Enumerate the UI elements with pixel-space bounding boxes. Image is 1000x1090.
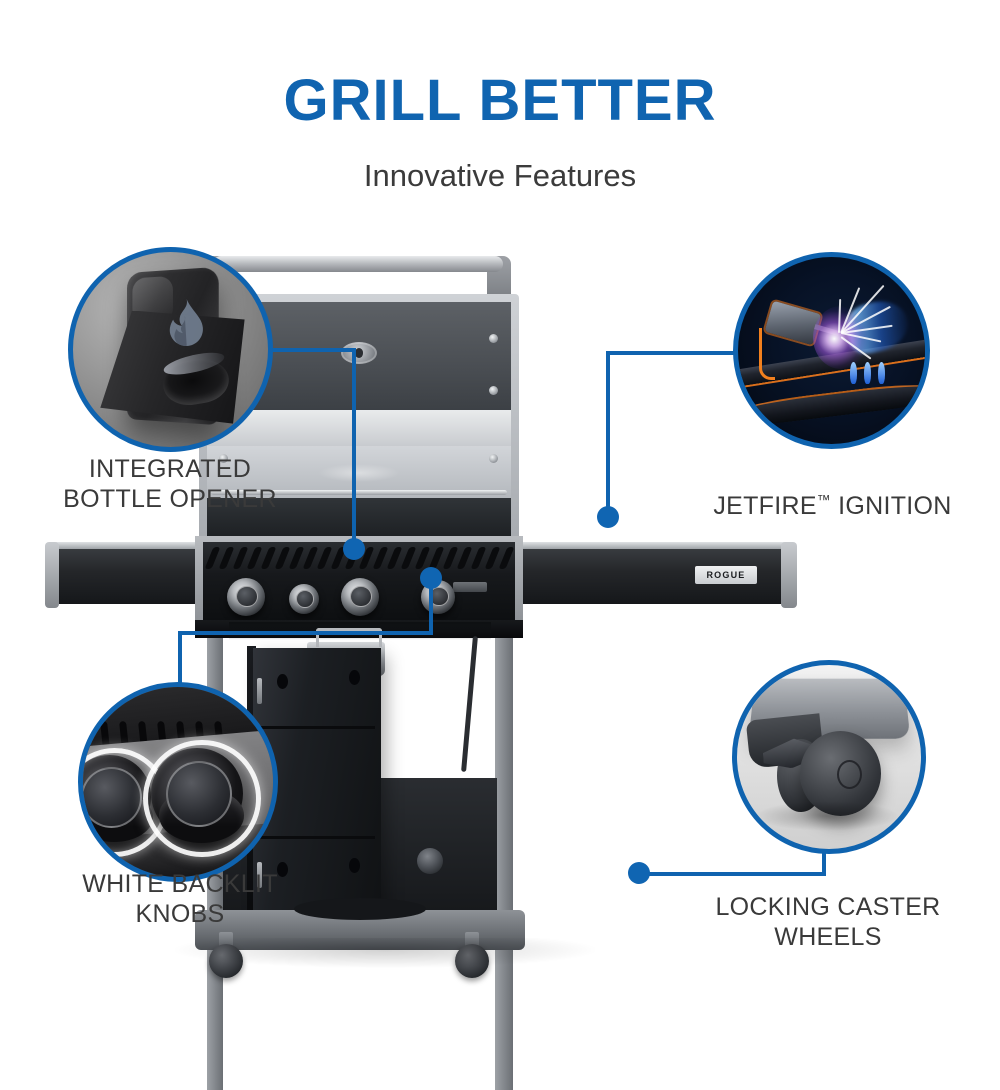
trademark-symbol: ™ bbox=[817, 492, 831, 507]
spark-ignition-icon bbox=[733, 252, 930, 449]
connector-knobs-v1 bbox=[178, 631, 182, 683]
control-panel-logo bbox=[453, 582, 487, 592]
callout-label-jetfire: JETFIRE™ IGNITION bbox=[690, 462, 975, 521]
callout-label-caster: LOCKING CASTER WHEELS bbox=[678, 893, 978, 952]
callout-label-knobs: WHITE BACKLIT KNOBS bbox=[30, 870, 330, 929]
caster-wheel-icon bbox=[732, 660, 926, 854]
burner-knob-1[interactable] bbox=[227, 578, 265, 616]
rogue-model-badge: ROGUE bbox=[695, 566, 757, 584]
burner-knob-3[interactable] bbox=[341, 578, 379, 616]
bottle-opener-icon bbox=[68, 247, 273, 452]
right-shelf-lip bbox=[781, 542, 797, 608]
connector-dot-caster bbox=[628, 862, 650, 884]
connector-caster-h bbox=[640, 872, 826, 876]
callout-label-jetfire-main: JETFIRE bbox=[713, 492, 817, 520]
page-subtitle: Innovative Features bbox=[0, 160, 1000, 191]
connector-jetfire-h bbox=[606, 351, 738, 355]
connector-knobs-h bbox=[178, 631, 433, 635]
control-knob-icon bbox=[78, 682, 278, 882]
callout-label-jetfire-rest: IGNITION bbox=[831, 492, 952, 520]
right-shelf-top bbox=[523, 542, 787, 549]
connector-dot-bottle-opener bbox=[343, 538, 365, 560]
lid-vent-gauge bbox=[341, 342, 377, 364]
connector-jetfire-v bbox=[606, 351, 610, 518]
caster-wheel-rear[interactable] bbox=[417, 848, 443, 874]
left-shelf-lip bbox=[45, 542, 59, 608]
burner-knob-2[interactable] bbox=[289, 584, 319, 614]
page-title: GRILL BETTER bbox=[0, 72, 1000, 130]
floor-shadow bbox=[175, 938, 595, 968]
feature-callout-poster: GRILL BETTER Innovative Features bbox=[0, 0, 1000, 1000]
left-shelf-top bbox=[53, 542, 205, 549]
left-shelf bbox=[53, 546, 205, 604]
connector-dot-jetfire bbox=[597, 506, 619, 528]
connector-knobs-v2 bbox=[429, 587, 433, 633]
napoleon-logo bbox=[318, 464, 400, 482]
gas-hose bbox=[461, 636, 478, 772]
connector-dot-knobs bbox=[420, 567, 442, 589]
cart-leg-right bbox=[495, 638, 513, 1090]
connector-bottle-opener-v bbox=[352, 348, 356, 550]
callout-label-bottle-opener: INTEGRATED BOTTLE OPENER bbox=[20, 455, 320, 514]
